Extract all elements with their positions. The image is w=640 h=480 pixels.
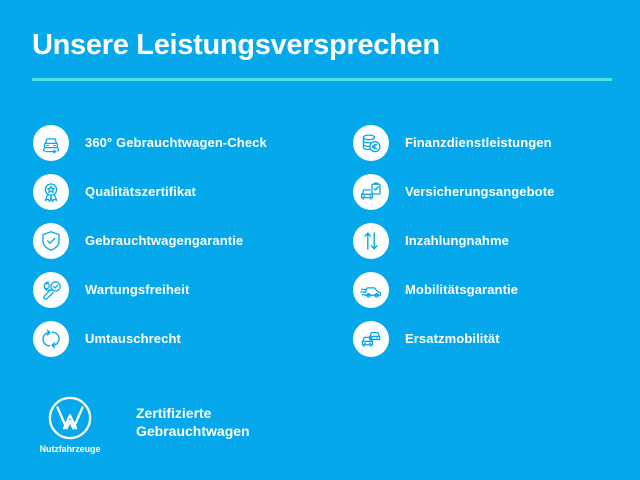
footer: Nutzfahrzeuge Zertifizierte Gebrauchtwag… [33, 395, 250, 454]
promise-label: Inzahlungnahme [405, 233, 509, 248]
promise-item-umtauschrecht[interactable]: Umtauschrecht [33, 314, 330, 363]
promise-label: Qualitätszertifikat [85, 184, 196, 199]
car-clipboard-icon [353, 174, 389, 210]
promises-grid: 360° Gebrauchtwagen-Check Qualitätszerti… [0, 118, 640, 363]
two-cars-icon [353, 321, 389, 357]
car-360-check-icon [33, 125, 69, 161]
promise-label: Umtauschrecht [85, 331, 181, 346]
promise-item-mobilitaetsgarantie[interactable]: Mobilitätsgarantie [353, 265, 640, 314]
promise-label: Versicherungsangebote [405, 184, 554, 199]
promise-item-ersatzmobilitaet[interactable]: Ersatzmobilität [353, 314, 640, 363]
coins-euro-icon [353, 125, 389, 161]
promises-column-left: 360° Gebrauchtwagen-Check Qualitätszerti… [0, 118, 330, 363]
promise-item-gebrauchtwagengarantie[interactable]: Gebrauchtwagengarantie [33, 216, 330, 265]
promise-item-gebrauchtwagen-check[interactable]: 360° Gebrauchtwagen-Check [33, 118, 330, 167]
promises-column-right: Finanzdienstleistungen [330, 118, 640, 363]
brand-block: Nutzfahrzeuge [33, 395, 107, 454]
footer-text-line2: Gebrauchtwagen [136, 422, 250, 440]
promise-item-finanzdienstleistungen[interactable]: Finanzdienstleistungen [353, 118, 640, 167]
shield-check-icon [33, 223, 69, 259]
header: Unsere Leistungsversprechen [32, 28, 612, 81]
promise-item-inzahlungnahme[interactable]: Inzahlungnahme [353, 216, 640, 265]
title-divider [32, 78, 612, 81]
promise-label: Ersatzmobilität [405, 331, 500, 346]
car-speed-icon [353, 272, 389, 308]
slide-root: Unsere Leistungsversprechen [0, 0, 640, 480]
footer-text: Zertifizierte Gebrauchtwagen [136, 404, 250, 440]
wrench-check-icon [33, 272, 69, 308]
promise-label: Gebrauchtwagengarantie [85, 233, 243, 248]
promise-label: Wartungsfreiheit [85, 282, 189, 297]
promise-label: Mobilitätsgarantie [405, 282, 518, 297]
promise-label: Finanzdienstleistungen [405, 135, 552, 150]
award-rosette-icon [33, 174, 69, 210]
promise-item-qualitaetszertifikat[interactable]: Qualitätszertifikat [33, 167, 330, 216]
exchange-arrows-icon [33, 321, 69, 357]
promise-label: 360° Gebrauchtwagen-Check [85, 135, 267, 150]
brand-sub-label: Nutzfahrzeuge [40, 444, 101, 454]
arrows-up-down-icon [353, 223, 389, 259]
page-title: Unsere Leistungsversprechen [32, 28, 612, 62]
promise-item-wartungsfreiheit[interactable]: Wartungsfreiheit [33, 265, 330, 314]
footer-text-line1: Zertifizierte [136, 404, 250, 422]
promise-item-versicherungsangebote[interactable]: Versicherungsangebote [353, 167, 640, 216]
volkswagen-logo [47, 395, 93, 441]
